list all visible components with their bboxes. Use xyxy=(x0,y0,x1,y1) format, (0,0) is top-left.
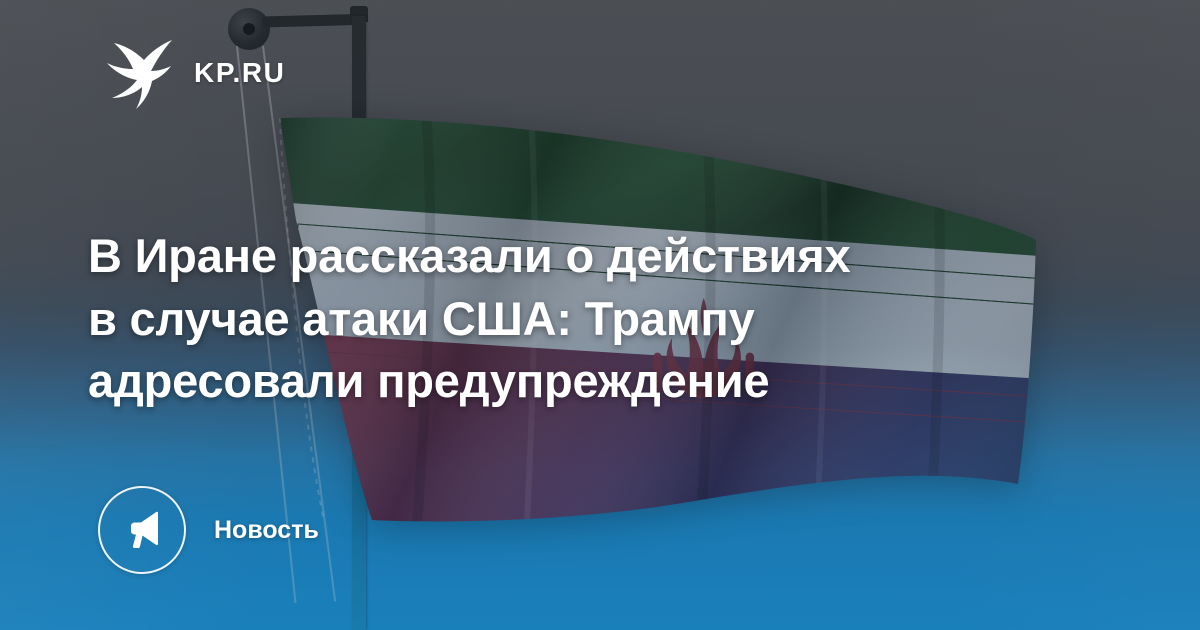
badge-icon-circle xyxy=(98,486,186,574)
headline-line-1: В Иране рассказали о действиях xyxy=(88,225,1088,288)
category-badge[interactable]: Новость xyxy=(98,486,319,574)
headline-line-2: в случае атаки США: Трампу xyxy=(88,288,1088,351)
page-title: В Иране рассказали о действиях в случае … xyxy=(88,225,1088,413)
swallow-bird-icon xyxy=(106,36,176,110)
site-logo-text: KP.RU xyxy=(194,59,286,87)
headline-line-3: адресовали предупреждение xyxy=(88,350,1088,413)
site-logo[interactable]: KP.RU xyxy=(106,36,286,110)
megaphone-icon xyxy=(121,509,163,551)
category-badge-label: Новость xyxy=(214,518,319,543)
news-share-card: KP.RU В Иране рассказали о действиях в с… xyxy=(0,0,1200,630)
